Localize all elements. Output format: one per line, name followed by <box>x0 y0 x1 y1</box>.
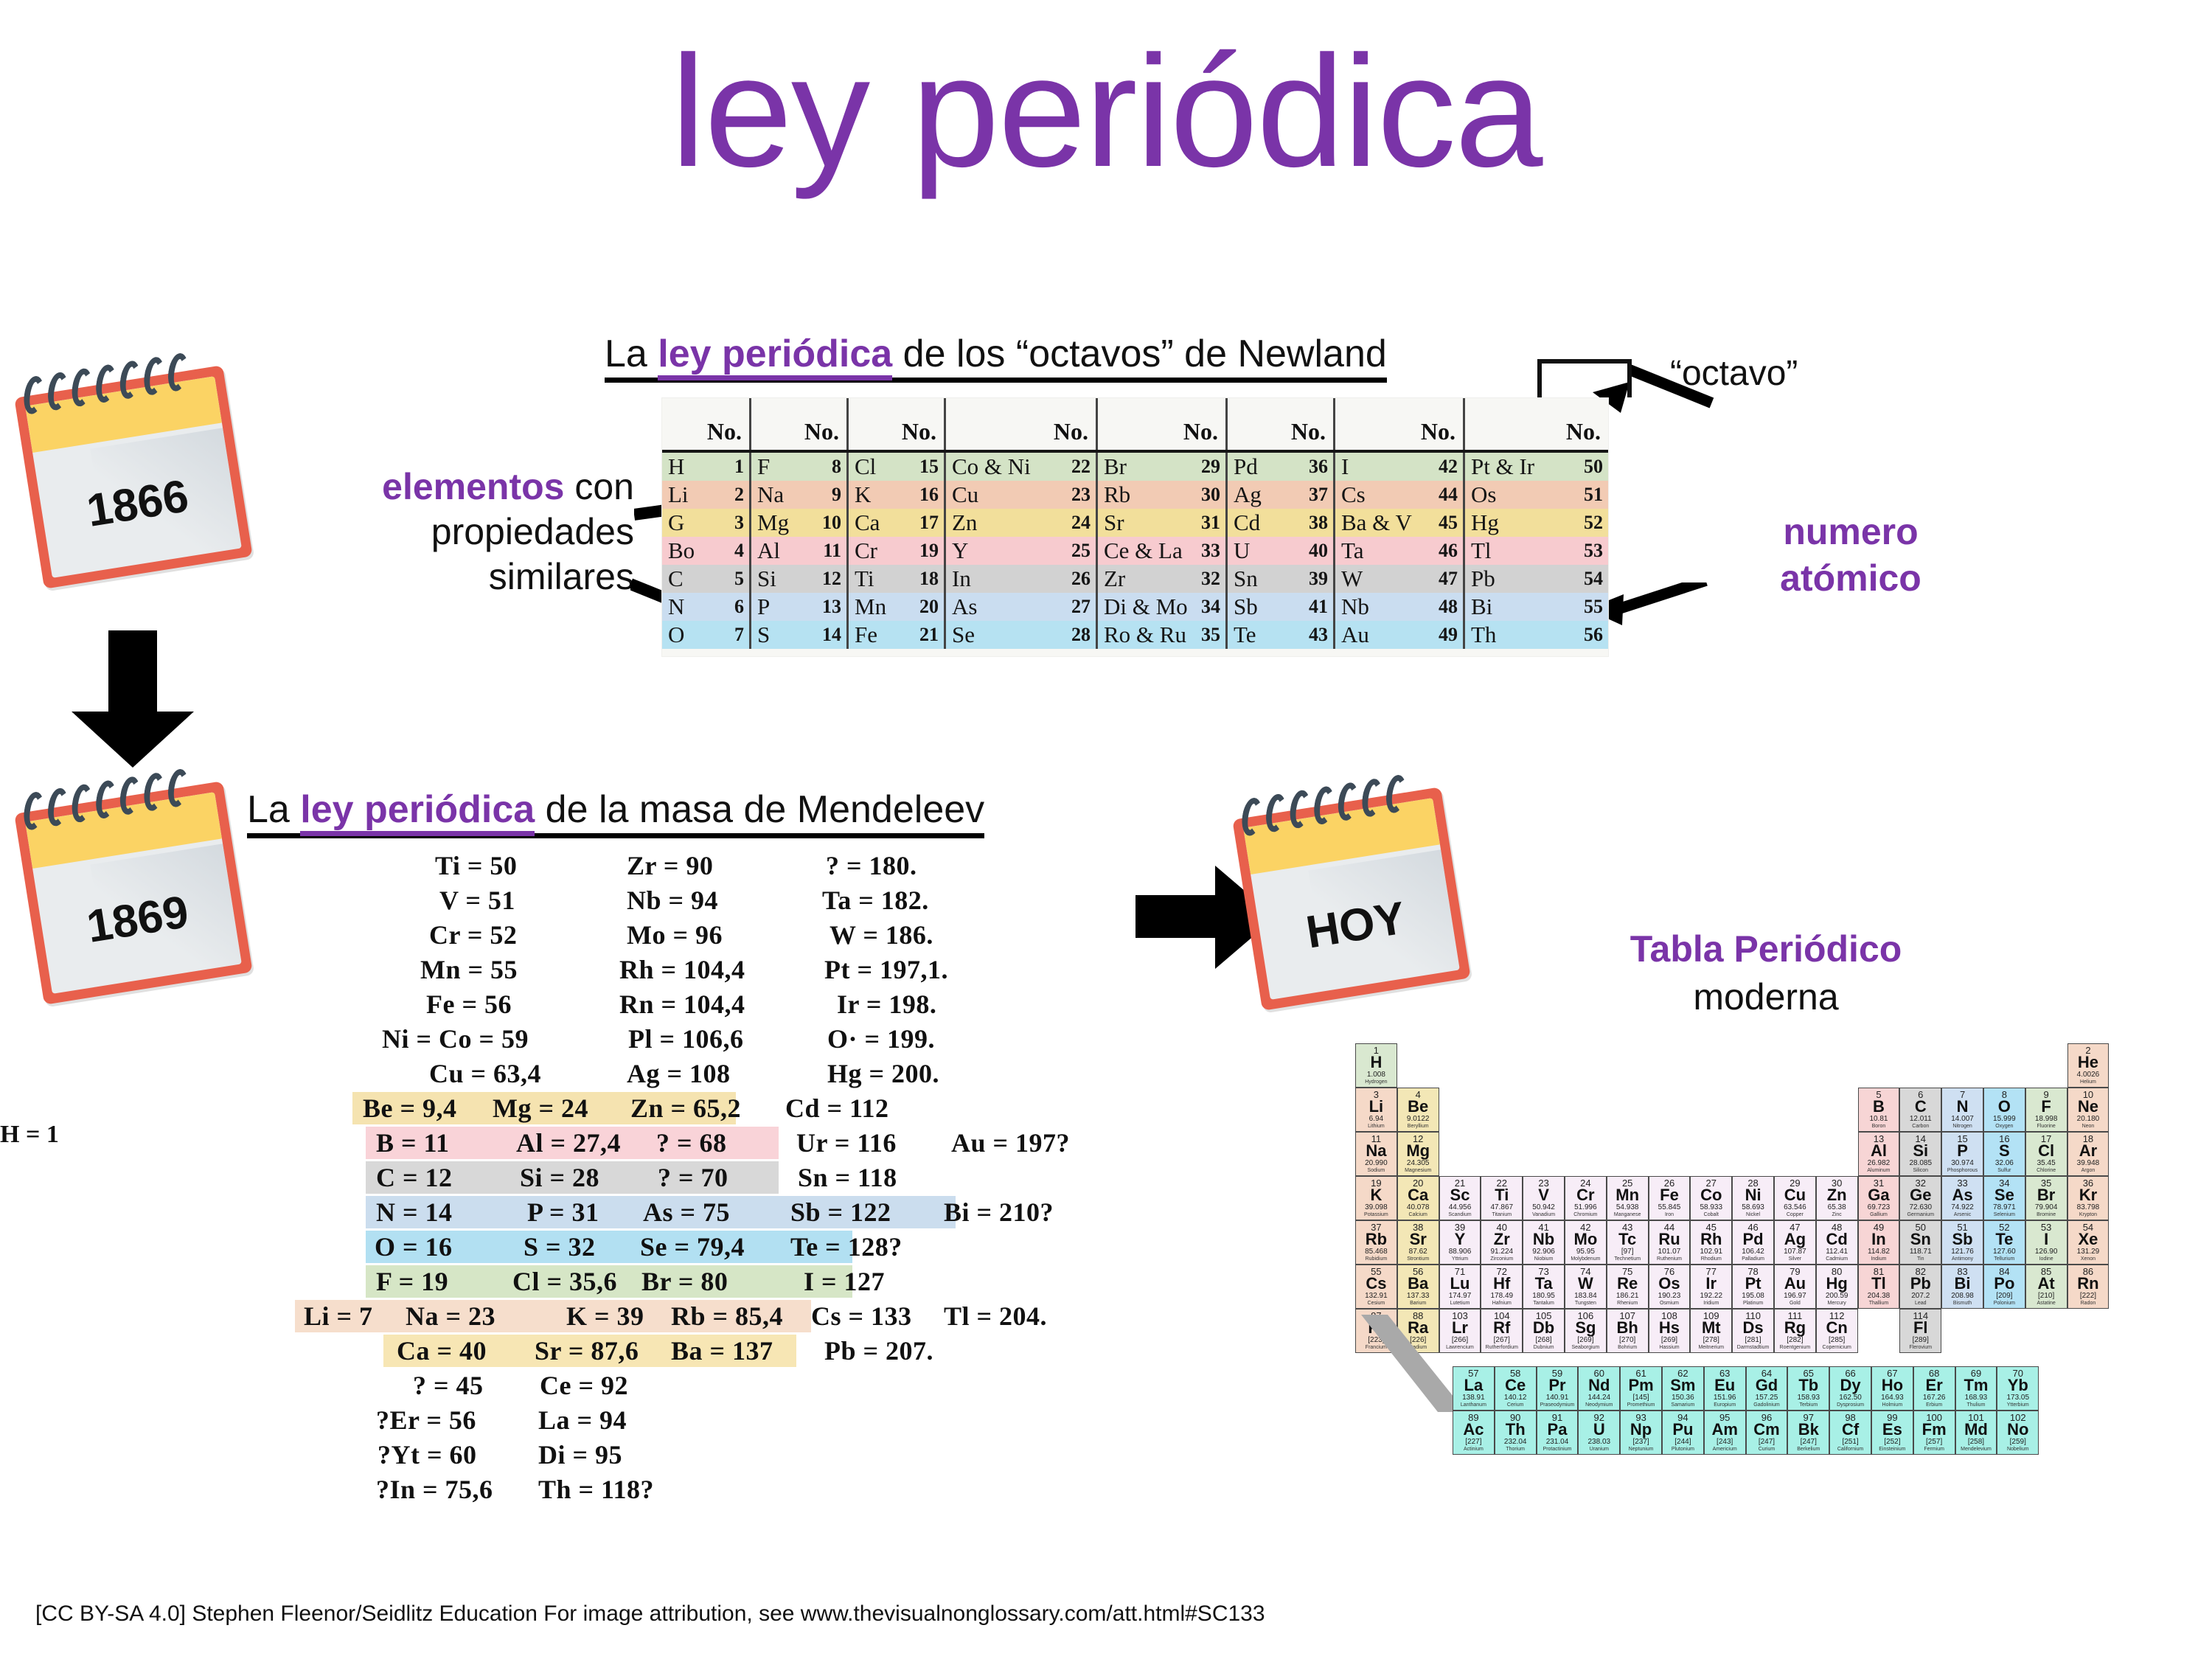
element-name: Niobium <box>1534 1256 1554 1262</box>
element-symbol: C <box>1915 1099 1927 1115</box>
periodic-cell-empty <box>2067 1309 2110 1353</box>
atomic-mass: [145] <box>1632 1394 1649 1402</box>
element-symbol: Re <box>1617 1276 1638 1292</box>
newland-heading: La ley periódica de los “octavos” de New… <box>605 332 1387 387</box>
periodic-cell-Bk[interactable]: 97Bk[247]Berkelium <box>1787 1411 1829 1455</box>
periodic-cell-Bh[interactable]: 107Bh[270]Bohrium <box>1607 1309 1649 1353</box>
atomic-mass: 178.49 <box>1490 1293 1513 1300</box>
calendar-ring-icon <box>1287 789 1312 829</box>
periodic-cell-Ta[interactable]: 73Ta180.95Tantalum <box>1523 1265 1565 1309</box>
mendeleev-entry: Rb = 85,4 <box>671 1301 783 1332</box>
mendeleev-table-row: ? = 45Ce = 92 <box>295 1368 1165 1402</box>
periodic-cell-Cr[interactable]: 24Cr51.996Chromium <box>1565 1176 1607 1220</box>
mendeleev-entry: Ca = 40 <box>397 1335 487 1366</box>
element-symbol: Pm <box>1628 1377 1653 1394</box>
periodic-cell-Fm[interactable]: 100Fm[257]Fermium <box>1913 1411 1955 1455</box>
element-name: Strontium <box>1407 1256 1429 1262</box>
element-symbol: S <box>1999 1143 2010 1159</box>
element-name: Xenon <box>2081 1256 2096 1262</box>
element-symbol: Ru <box>1658 1231 1680 1248</box>
element-number: 11 <box>823 540 846 562</box>
annotation-numero-line1: numero <box>1783 511 1918 552</box>
periodic-row: 55Cs132.91Cesium56Ba137.33Barium71Lu174.… <box>1355 1265 2196 1309</box>
newland-cell: Th56 <box>1463 621 1608 649</box>
periodic-cell-empty <box>1565 1088 1607 1132</box>
periodic-cell-empty <box>1732 1043 1774 1088</box>
periodic-cell-Ne[interactable]: 10Ne20.180Neon <box>2067 1088 2110 1132</box>
element-symbol: Tm <box>1964 1377 1988 1394</box>
periodic-cell-Bi[interactable]: 83Bi208.98Bismuth <box>1941 1265 1983 1309</box>
periodic-cell-Nd[interactable]: 60Nd144.24Neodymium <box>1578 1366 1620 1411</box>
element-symbol: Bk <box>1798 1422 1819 1438</box>
periodic-cell-Br[interactable]: 35Br79.904Bromine <box>2025 1176 2067 1220</box>
element-name: Hafnium <box>1492 1301 1512 1306</box>
element-symbol: Yb <box>2008 1377 2028 1394</box>
atomic-mass: 102.91 <box>1700 1248 1722 1256</box>
periodic-cell-Si[interactable]: 14Si28.085Silicon <box>1899 1132 1941 1176</box>
periodic-cell-Kr[interactable]: 36Kr83.798Krypton <box>2067 1176 2110 1220</box>
periodic-cell-empty <box>1607 1132 1649 1176</box>
periodic-cell-Hs[interactable]: 108Hs[269]Hassium <box>1649 1309 1691 1353</box>
element-name: Aluminum <box>1867 1168 1890 1173</box>
element-name: Chlorine <box>2037 1168 2056 1173</box>
element-symbol: N <box>1957 1099 1969 1115</box>
element-symbol: H <box>1370 1054 1382 1071</box>
periodic-cell-Pr[interactable]: 59Pr140.91Praseodymium <box>1537 1366 1579 1411</box>
periodic-cell-Ca[interactable]: 20Ca40.078Calcium <box>1397 1176 1439 1220</box>
atomic-mass: 126.90 <box>2035 1248 2058 1256</box>
atomic-mass: 1.008 <box>1367 1071 1385 1079</box>
element-name: Erbium <box>1926 1402 1942 1408</box>
element-symbol: Hg <box>1826 1276 1848 1292</box>
element-name: Boron <box>1872 1124 1886 1129</box>
periodic-cell-empty <box>1816 1043 1858 1088</box>
mendeleev-entry: Ur = 116 <box>796 1127 897 1158</box>
periodic-cell-Sm[interactable]: 62Sm150.36Samarium <box>1662 1366 1704 1411</box>
periodic-cell-empty <box>1858 1309 1900 1353</box>
periodic-cell-Pd[interactable]: 46Pd106.42Palladium <box>1732 1220 1774 1265</box>
periodic-cell-Mg[interactable]: 12Mg24.305Magnesium <box>1397 1132 1439 1176</box>
periodic-cell-Ag[interactable]: 47Ag107.87Silver <box>1774 1220 1816 1265</box>
element-number: 36 <box>1309 456 1333 478</box>
atomic-mass: [278] <box>1703 1337 1719 1344</box>
periodic-cell-I[interactable]: 53I126.90Iodine <box>2025 1220 2067 1265</box>
periodic-cell-Fe[interactable]: 26Fe55.845Iron <box>1649 1176 1691 1220</box>
atomic-mass: 174.97 <box>1449 1293 1472 1300</box>
periodic-cell-Re[interactable]: 75Re186.21Rhenium <box>1607 1265 1649 1309</box>
periodic-cell-Eu[interactable]: 63Eu151.96Europium <box>1704 1366 1746 1411</box>
calendar-ring-icon <box>1312 785 1337 826</box>
periodic-cell-Cs[interactable]: 55Cs132.91Cesium <box>1355 1265 1397 1309</box>
element-symbol: Cn <box>1826 1320 1848 1336</box>
periodic-cell-Rg[interactable]: 111Rg[282]Roentgenium <box>1774 1309 1816 1353</box>
mendeleev-entry: Cu = 63,4 <box>429 1058 541 1089</box>
element-name: Lutetium <box>1450 1301 1470 1306</box>
element-number: 13 <box>822 596 846 618</box>
periodic-cell-Dy[interactable]: 66Dy162.50Dysprosium <box>1829 1366 1871 1411</box>
periodic-cell-Er[interactable]: 68Er167.26Erbium <box>1913 1366 1955 1411</box>
element-symbol: F <box>751 453 832 480</box>
mendeleev-table-row: Li = 7Na = 23K = 39Rb = 85,4Cs = 133Tl =… <box>295 1298 1165 1333</box>
atomic-mass: 92.906 <box>1532 1248 1555 1256</box>
element-name: Rubidium <box>1366 1256 1388 1262</box>
atomic-mass: [281] <box>1745 1337 1761 1344</box>
element-symbol: Rh <box>1700 1231 1722 1248</box>
element-symbol: Mo <box>1574 1231 1598 1248</box>
element-symbol: V <box>1538 1187 1549 1203</box>
periodic-cell-Fl[interactable]: 114Fl[289]Flerovium <box>1899 1309 1941 1353</box>
periodic-cell-Ce[interactable]: 58Ce140.12Cerium <box>1495 1366 1537 1411</box>
periodic-cell-H[interactable]: 1H1.008Hydrogen <box>1355 1043 1397 1088</box>
element-symbol: Pb <box>1465 566 1584 592</box>
periodic-cell-Tb[interactable]: 65Tb158.93Terbium <box>1787 1366 1829 1411</box>
element-symbol: P <box>751 594 822 620</box>
mendeleev-entry: K = 39 <box>566 1301 644 1332</box>
periodic-cell-empty <box>1523 1043 1565 1088</box>
newland-cell: Zn24 <box>944 509 1096 537</box>
calendar-ring-icon <box>117 775 142 815</box>
mendeleev-entry: Th = 118? <box>538 1474 654 1505</box>
periodic-cell-Sc[interactable]: 21Sc44.956Scandium <box>1439 1176 1481 1220</box>
atomic-mass: 9.0122 <box>1407 1116 1430 1123</box>
atomic-mass: 4.0026 <box>2077 1071 2100 1079</box>
periodic-cell-Np[interactable]: 93Np[237]Neptunium <box>1620 1411 1662 1455</box>
element-number: 33 <box>1201 540 1225 562</box>
periodic-cell-empty <box>1397 1043 1439 1088</box>
element-symbol: Pt & Ir <box>1465 453 1584 480</box>
periodic-cell-K[interactable]: 19K39.098Potassium <box>1355 1176 1397 1220</box>
periodic-cell-Ge[interactable]: 32Ge72.630Germanium <box>1899 1176 1941 1220</box>
periodic-cell-Mt[interactable]: 109Mt[278]Meitnerium <box>1690 1309 1732 1353</box>
newland-table-row: C5Si12Ti18In26Zr32Sn39W47Pb54 <box>662 565 1608 593</box>
periodic-cell-Rb[interactable]: 37Rb85.468Rubidium <box>1355 1220 1397 1265</box>
periodic-cell-U[interactable]: 92U238.03Uranium <box>1578 1411 1620 1455</box>
periodic-cell-Ds[interactable]: 110Ds[281]Darmstadtium <box>1732 1309 1774 1353</box>
periodic-cell-N[interactable]: 7N14.007Nitrogen <box>1941 1088 1983 1132</box>
periodic-cell-Mo[interactable]: 42Mo95.95Molybdenum <box>1565 1220 1607 1265</box>
mendeleev-entry: O· = 199. <box>827 1023 935 1054</box>
element-name: Dysprosium <box>1837 1402 1864 1408</box>
element-name: Barium <box>1410 1301 1426 1306</box>
element-name: Mercury <box>1828 1301 1846 1306</box>
lanthanide-actinide-grid: 57La138.91Lanthanum58Ce140.12Cerium59Pr1… <box>1453 1366 2039 1455</box>
element-name: Scandium <box>1448 1212 1471 1217</box>
periodic-cell-Yb[interactable]: 70Yb173.05Ytterbium <box>1997 1366 2039 1411</box>
periodic-cell-Cm[interactable]: 96Cm[247]Curium <box>1746 1411 1788 1455</box>
element-symbol: Ca <box>849 509 919 536</box>
periodic-cell-empty <box>1565 1132 1607 1176</box>
calendar-ring-icon <box>21 790 46 831</box>
element-number: 9 <box>832 484 846 506</box>
periodic-cell-Hf[interactable]: 72Hf178.49Hafnium <box>1481 1265 1523 1309</box>
periodic-cell-Am[interactable]: 95Am[243]Americium <box>1704 1411 1746 1455</box>
atomic-mass: 200.59 <box>1826 1293 1848 1300</box>
periodic-cell-Se[interactable]: 34Se78.971Selenium <box>1983 1176 2025 1220</box>
element-symbol: Nd <box>1588 1377 1610 1394</box>
periodic-cell-empty <box>2025 1043 2067 1088</box>
periodic-cell-Md[interactable]: 101Md[258]Mendelevium <box>1955 1411 1997 1455</box>
atomic-mass: [247] <box>1759 1439 1775 1446</box>
periodic-cell-Lu[interactable]: 71Lu174.97Lutetium <box>1439 1265 1481 1309</box>
element-symbol: Mt <box>1702 1320 1721 1336</box>
periodic-cell-Pm[interactable]: 61Pm[145]Promethium <box>1620 1366 1662 1411</box>
periodic-cell-Rn[interactable]: 86Rn[222]Radon <box>2067 1265 2110 1309</box>
periodic-cell-Be[interactable]: 4Be9.0122Beryllium <box>1397 1088 1439 1132</box>
element-symbol: Ho <box>1882 1377 1903 1394</box>
periodic-cell-S[interactable]: 16S32.06Sulfur <box>1983 1132 2025 1176</box>
periodic-cell-Ho[interactable]: 67Ho164.93Holmium <box>1871 1366 1913 1411</box>
mendeleev-table-row: ?Yt = 60Di = 95 <box>295 1437 1165 1472</box>
periodic-cell-Sn[interactable]: 50Sn118.71Tin <box>1899 1220 1941 1265</box>
element-symbol: C <box>662 566 734 592</box>
newland-heading-prefix: La <box>605 333 658 375</box>
periodic-cell-Ir[interactable]: 77Ir192.22Iridium <box>1690 1265 1732 1309</box>
element-name: Hassium <box>1659 1345 1679 1350</box>
mendeleev-entry: Ce = 92 <box>540 1370 628 1401</box>
element-number: 24 <box>1071 512 1096 534</box>
periodic-cell-Pt[interactable]: 78Pt195.08Platinum <box>1732 1265 1774 1309</box>
periodic-cell-Li[interactable]: 3Li6.94Lithium <box>1355 1088 1397 1132</box>
periodic-cell-Rh[interactable]: 45Rh102.91Rhodium <box>1690 1220 1732 1265</box>
periodic-cell-Ru[interactable]: 44Ru101.07Ruthenium <box>1649 1220 1691 1265</box>
periodic-cell-Cf[interactable]: 98Cf[251]Californium <box>1829 1411 1871 1455</box>
periodic-cell-At[interactable]: 85At[210]Astatine <box>2025 1265 2067 1309</box>
element-symbol: Bo <box>662 538 734 564</box>
element-name: Carbon <box>1912 1124 1929 1129</box>
calendar-ring-icon <box>69 783 94 824</box>
atomic-mass: 78.971 <box>1993 1204 2016 1211</box>
element-symbol: Co & Ni <box>946 453 1071 480</box>
element-symbol: Y <box>1455 1231 1466 1248</box>
mendeleev-table-row: B = 11Al = 27,4? = 68Ur = 116Au = 197? <box>295 1125 1165 1160</box>
newland-col-header: No. <box>1463 398 1608 450</box>
periodic-cell-empty <box>1481 1043 1523 1088</box>
element-name: Darmstadtium <box>1737 1345 1770 1350</box>
atomic-mass: [243] <box>1717 1439 1733 1446</box>
element-number: 44 <box>1439 484 1463 506</box>
atomic-mass: 69.723 <box>1868 1204 1891 1211</box>
element-symbol: Li <box>662 481 734 508</box>
calendar-ring-icon <box>94 364 119 404</box>
element-symbol: Ds <box>1743 1320 1764 1336</box>
atomic-mass: [285] <box>1829 1337 1845 1344</box>
element-number: 18 <box>919 568 944 590</box>
mendeleev-entry: Bi = 210? <box>944 1197 1054 1228</box>
periodic-cell-C[interactable]: 6C12.011Carbon <box>1899 1088 1941 1132</box>
periodic-cell-V[interactable]: 23V50.942Vanadium <box>1523 1176 1565 1220</box>
periodic-cell-As[interactable]: 33As74.922Arsenic <box>1941 1176 1983 1220</box>
atomic-mass: 20.990 <box>1365 1160 1388 1167</box>
mendeleev-entry: Rh = 104,4 <box>619 954 745 985</box>
periodic-cell-Al[interactable]: 13Al26.982Aluminum <box>1858 1132 1900 1176</box>
periodic-cell-B[interactable]: 5B10.81Boron <box>1858 1088 1900 1132</box>
atomic-mass: 140.12 <box>1504 1394 1527 1402</box>
element-symbol: Ro & Ru <box>1098 622 1201 648</box>
periodic-cell-Cl[interactable]: 17Cl35.45Chlorine <box>2025 1132 2067 1176</box>
element-symbol: Mn <box>1615 1187 1639 1203</box>
element-symbol: Cl <box>849 453 919 480</box>
atomic-mass: 101.07 <box>1658 1248 1681 1256</box>
mendeleev-entry: Pl = 106,6 <box>628 1023 744 1054</box>
periodic-cell-Pu[interactable]: 94Pu[244]Plutonium <box>1662 1411 1704 1455</box>
periodic-cell-Ti[interactable]: 22Ti47.867Titanium <box>1481 1176 1523 1220</box>
newland-cell: Ro & Ru35 <box>1096 621 1225 649</box>
element-symbol: Ce <box>1505 1377 1526 1394</box>
periodic-cell-Sr[interactable]: 38Sr87.62Strontium <box>1397 1220 1439 1265</box>
periodic-cell-Hg[interactable]: 80Hg200.59Mercury <box>1816 1265 1858 1309</box>
periodic-cell-La[interactable]: 57La138.91Lanthanum <box>1453 1366 1495 1411</box>
periodic-cell-Zn[interactable]: 30Zn65.38Zinc <box>1816 1176 1858 1220</box>
element-name: Praseodymium <box>1540 1402 1575 1408</box>
periodic-cell-Po[interactable]: 84Po[209]Polonium <box>1983 1265 2025 1309</box>
element-name: Molybdenum <box>1571 1256 1600 1262</box>
element-name: Gallium <box>1870 1212 1888 1217</box>
element-symbol: Si <box>1913 1143 1928 1159</box>
element-name: Protactinium <box>1543 1447 1572 1452</box>
mendeleev-entry: ?Er = 56 <box>376 1405 476 1436</box>
element-symbol: Dy <box>1840 1377 1861 1394</box>
periodic-cell-Au[interactable]: 79Au196.97Gold <box>1774 1265 1816 1309</box>
periodic-cell-O[interactable]: 8O15.999Oxygen <box>1983 1088 2025 1132</box>
periodic-cell-Pb[interactable]: 82Pb207.2Lead <box>1899 1265 1941 1309</box>
element-number: 49 <box>1439 624 1463 646</box>
periodic-cell-Ga[interactable]: 31Ga69.723Gallium <box>1858 1176 1900 1220</box>
element-symbol: Sn <box>1910 1231 1931 1248</box>
periodic-cell-P[interactable]: 15P30.974Phosphorous <box>1941 1132 1983 1176</box>
element-name: Neptunium <box>1629 1447 1654 1452</box>
element-symbol: Tb <box>1798 1377 1818 1394</box>
periodic-cell-Nb[interactable]: 41Nb92.906Niobium <box>1523 1220 1565 1265</box>
element-number: 45 <box>1439 512 1463 534</box>
element-symbol: Sr <box>1098 509 1201 536</box>
periodic-cell-Ni[interactable]: 28Ni58.693Nickel <box>1732 1176 1774 1220</box>
atomic-mass: 186.21 <box>1616 1293 1639 1300</box>
periodic-cell-Sb[interactable]: 51Sb121.76Antimony <box>1941 1220 1983 1265</box>
element-symbol: Xe <box>2078 1231 2098 1248</box>
periodic-cell-Es[interactable]: 99Es[252]Einsteinium <box>1871 1411 1913 1455</box>
element-name: Neodymium <box>1585 1402 1613 1408</box>
mendeleev-table-row: Ni = Co = 59Pl = 106,6O· = 199. <box>295 1021 1165 1056</box>
periodic-cell-Cu[interactable]: 29Cu63.546Copper <box>1774 1176 1816 1220</box>
periodic-cell-Cn[interactable]: 112Cn[285]Copernicium <box>1816 1309 1858 1353</box>
element-number: 50 <box>1584 456 1608 478</box>
element-symbol: Bi <box>1465 594 1584 620</box>
element-symbol: Np <box>1630 1422 1652 1438</box>
atomic-mass: [252] <box>1884 1439 1900 1446</box>
periodic-cell-Ac[interactable]: 89Ac[227]Actinium <box>1453 1411 1495 1455</box>
periodic-cell-Co[interactable]: 27Co58.933Cobalt <box>1690 1176 1732 1220</box>
atomic-mass: 47.867 <box>1490 1204 1513 1211</box>
newland-cell: C5 <box>662 565 749 593</box>
periodic-cell-Y[interactable]: 39Y88.906Yttrium <box>1439 1220 1481 1265</box>
element-symbol: Ta <box>1335 538 1439 564</box>
mendeleev-heading-prefix: La <box>247 788 300 831</box>
newland-cell: Rb30 <box>1096 481 1225 509</box>
periodic-cell-He[interactable]: 2He4.0026Helium <box>2067 1043 2110 1088</box>
atomic-mass: 192.22 <box>1700 1293 1722 1300</box>
periodic-row: 37Rb85.468Rubidium38Sr87.62Strontium39Y8… <box>1355 1220 2196 1265</box>
element-symbol: Te <box>1228 622 1309 648</box>
newland-cell: O7 <box>662 621 749 649</box>
periodic-cell-empty <box>1481 1088 1523 1132</box>
newland-cell: Fe21 <box>846 621 944 649</box>
element-symbol: P <box>1957 1143 1968 1159</box>
periodic-cell-Na[interactable]: 11Na20.990Sodium <box>1355 1132 1397 1176</box>
atomic-mass: 112.41 <box>1826 1248 1848 1256</box>
element-symbol: Fe <box>849 622 919 648</box>
element-symbol: Co <box>1700 1187 1722 1203</box>
periodic-cell-In[interactable]: 49In114.82Indium <box>1858 1220 1900 1265</box>
periodic-cell-Tc[interactable]: 43Tc[97]Technetium <box>1607 1220 1649 1265</box>
periodic-cell-Tm[interactable]: 69Tm168.93Thulium <box>1955 1366 1997 1411</box>
periodic-cell-Cd[interactable]: 48Cd112.41Cadmium <box>1816 1220 1858 1265</box>
periodic-cell-empty <box>1941 1309 1983 1353</box>
element-number: 31 <box>1201 512 1225 534</box>
mendeleev-table-row: ?In = 75,6Th = 118? <box>295 1472 1165 1506</box>
element-name: Terbium <box>1799 1402 1818 1408</box>
element-name: Arsenic <box>1954 1212 1971 1217</box>
periodic-cell-Os[interactable]: 76Os190.23Osmium <box>1649 1265 1691 1309</box>
atomic-mass: 58.933 <box>1700 1204 1722 1211</box>
element-name: Europium <box>1714 1402 1736 1408</box>
periodic-cell-W[interactable]: 74W183.84Tungsten <box>1565 1265 1607 1309</box>
periodic-cell-Gd[interactable]: 64Gd157.25Gadolinium <box>1746 1366 1788 1411</box>
element-number: 17 <box>919 512 944 534</box>
periodic-cell-Ar[interactable]: 18Ar39.948Argon <box>2067 1132 2110 1176</box>
periodic-cell-Te[interactable]: 52Te127.60Tellurium <box>1983 1220 2025 1265</box>
periodic-cell-Pa[interactable]: 91Pa231.04Protactinium <box>1537 1411 1579 1455</box>
newland-cell: Au49 <box>1333 621 1463 649</box>
periodic-cell-Xe[interactable]: 54Xe131.29Xenon <box>2067 1220 2110 1265</box>
element-symbol: Au <box>1784 1276 1806 1292</box>
periodic-cell-Tl[interactable]: 81Tl204.38Thallium <box>1858 1265 1900 1309</box>
page-title: ley periódica <box>0 28 2212 195</box>
newland-cell: U40 <box>1225 537 1333 565</box>
periodic-cell-Mn[interactable]: 25Mn54.938Manganese <box>1607 1176 1649 1220</box>
newland-cell: Tl53 <box>1463 537 1608 565</box>
periodic-cell-No[interactable]: 102No[259]Nobelium <box>1997 1411 2039 1455</box>
mendeleev-entry: ? = 45 <box>413 1370 484 1401</box>
element-name: Manganese <box>1614 1212 1641 1217</box>
atomic-mass: [258] <box>1968 1439 1984 1446</box>
newland-cell: Na9 <box>749 481 846 509</box>
mendeleev-entry: Ta = 182. <box>822 885 929 916</box>
mendeleev-entry: Sn = 118 <box>798 1162 897 1193</box>
mendeleev-entry: Au = 197? <box>951 1127 1070 1158</box>
element-symbol: Mg <box>751 509 822 536</box>
periodic-cell-F[interactable]: 9F18.998Fluorine <box>2025 1088 2067 1132</box>
element-symbol: Te <box>1995 1231 2013 1248</box>
element-symbol: U <box>1228 538 1309 564</box>
periodic-cell-empty <box>2025 1309 2067 1353</box>
element-symbol: Br <box>1098 453 1201 480</box>
element-symbol: Lu <box>1450 1276 1470 1292</box>
periodic-cell-Zr[interactable]: 40Zr91.224Zirconium <box>1481 1220 1523 1265</box>
element-symbol: Md <box>1964 1422 1988 1438</box>
annotation-modern-line2: moderna <box>1552 973 1980 1021</box>
element-symbol: Th <box>1506 1422 1526 1438</box>
mendeleev-entry: F = 19 <box>376 1266 448 1297</box>
newland-cell: Ag37 <box>1225 481 1333 509</box>
element-name: Potassium <box>1364 1212 1388 1217</box>
mendeleev-entry: Di = 95 <box>538 1439 622 1470</box>
periodic-cell-Th[interactable]: 90Th232.04Thorium <box>1495 1411 1537 1455</box>
atomic-mass: 151.96 <box>1714 1394 1736 1402</box>
calendar-ring-icon <box>1264 793 1289 833</box>
element-symbol: Fm <box>1922 1422 1947 1438</box>
periodic-cell-empty <box>1774 1132 1816 1176</box>
periodic-cell-Ba[interactable]: 56Ba137.33Barium <box>1397 1265 1439 1309</box>
